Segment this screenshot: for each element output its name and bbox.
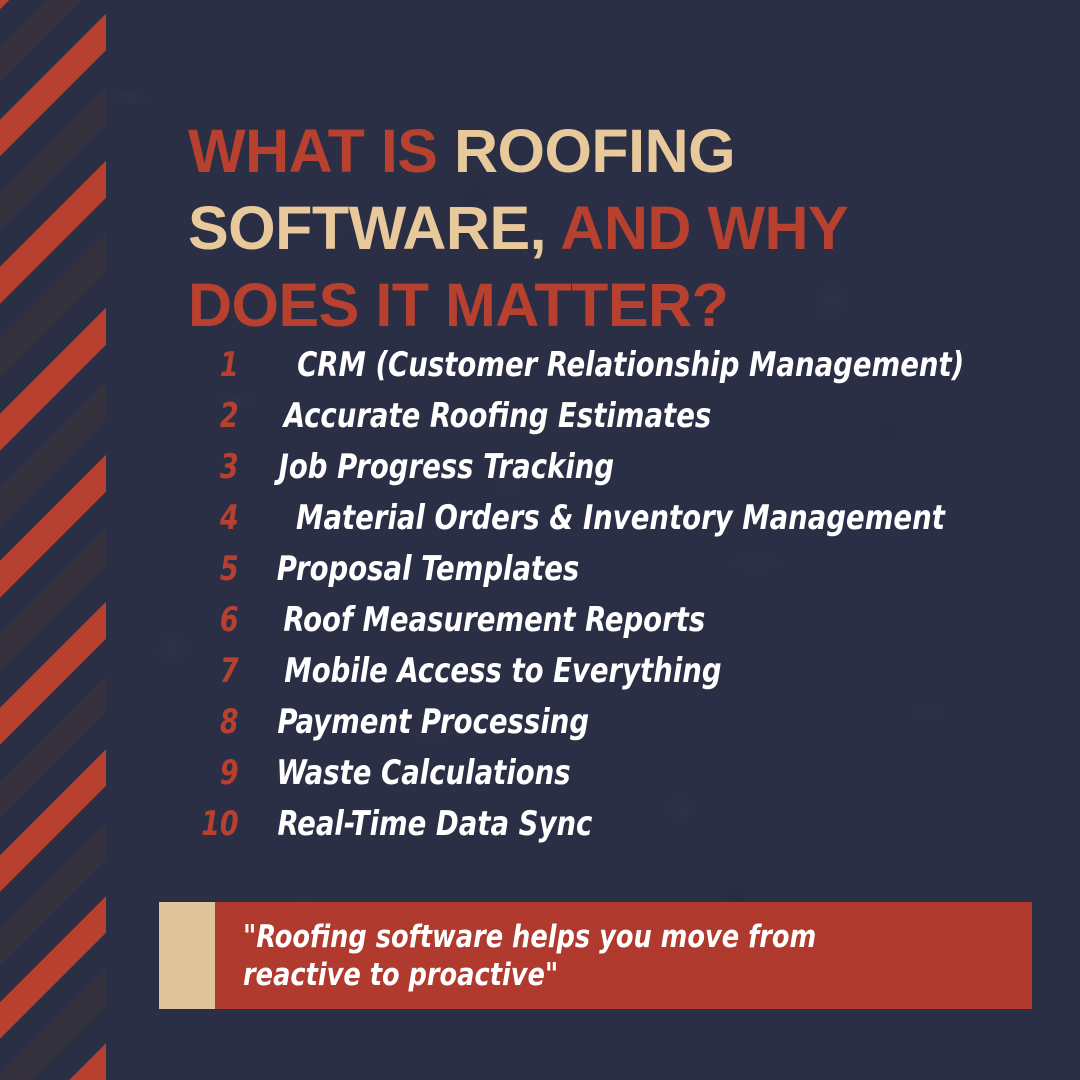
infographic-poster: WHAT IS ROOFING SOFTWARE, AND WHY DOES I… — [0, 0, 1080, 1080]
list-item-number: 1 — [189, 345, 238, 385]
list-item-number: 6 — [189, 600, 238, 640]
list-item: 3 Job Progress Tracking — [186, 447, 1046, 498]
list-item: 10 Real-Time Data Sync — [186, 804, 1046, 855]
title-line1-red: WHAT IS — [188, 117, 454, 185]
list-item-number: 2 — [189, 396, 238, 436]
list-item: 8 Payment Processing — [186, 702, 1046, 753]
list-item-label: Mobile Access to Everything — [284, 651, 721, 691]
quote-text: "Roofing software helps you move from re… — [243, 918, 816, 994]
list-item-label: Proposal Templates — [277, 549, 579, 589]
list-item-label: Material Orders & Inventory Management — [296, 498, 945, 538]
list-item-number: 4 — [189, 498, 238, 538]
list-item-label: Roof Measurement Reports — [283, 600, 705, 640]
list-item: 7 Mobile Access to Everything — [186, 651, 1046, 702]
list-item-label: Job Progress Tracking — [279, 447, 614, 487]
list-item: 9 Waste Calculations — [186, 753, 1046, 804]
list-item-number: 7 — [189, 651, 238, 691]
list-item-label: Payment Processing — [277, 702, 589, 742]
list-item-number: 3 — [189, 447, 238, 487]
feature-list: 1 CRM (Customer Relationship Management)… — [186, 345, 1046, 855]
page-title: WHAT IS ROOFING SOFTWARE, AND WHY DOES I… — [188, 113, 1028, 344]
list-item-number: 5 — [189, 549, 238, 589]
list-item: 1 CRM (Customer Relationship Management) — [186, 345, 1046, 396]
list-item-number: 8 — [189, 702, 238, 742]
list-item-number: 9 — [189, 753, 238, 793]
list-item: 4 Material Orders & Inventory Management — [186, 498, 1046, 549]
diagonal-stripe-decoration — [0, 0, 106, 1080]
list-item: 2 Accurate Roofing Estimates — [186, 396, 1046, 447]
list-item-label: Waste Calculations — [276, 753, 570, 793]
title-line2-cream: SOFTWARE, — [188, 194, 546, 262]
list-item-number: 10 — [189, 804, 238, 844]
quote-line-1: "Roofing software helps you move from — [243, 919, 816, 955]
list-item: 6 Roof Measurement Reports — [186, 600, 1046, 651]
title-line3-red: DOES IT MATTER? — [188, 271, 728, 339]
quote-accent-bar — [159, 902, 215, 1009]
list-item-label: Accurate Roofing Estimates — [284, 396, 712, 436]
title-line1-cream: ROOFING — [454, 117, 735, 185]
list-item: 5 Proposal Templates — [186, 549, 1046, 600]
list-item-label: CRM (Customer Relationship Management) — [297, 345, 964, 385]
quote-line-2: reactive to proactive" — [243, 957, 558, 993]
title-line2-red: AND WHY — [546, 194, 848, 262]
quote-banner: "Roofing software helps you move from re… — [159, 902, 1032, 1009]
quote-body: "Roofing software helps you move from re… — [215, 902, 1032, 1009]
list-item-label: Real-Time Data Sync — [277, 804, 592, 844]
